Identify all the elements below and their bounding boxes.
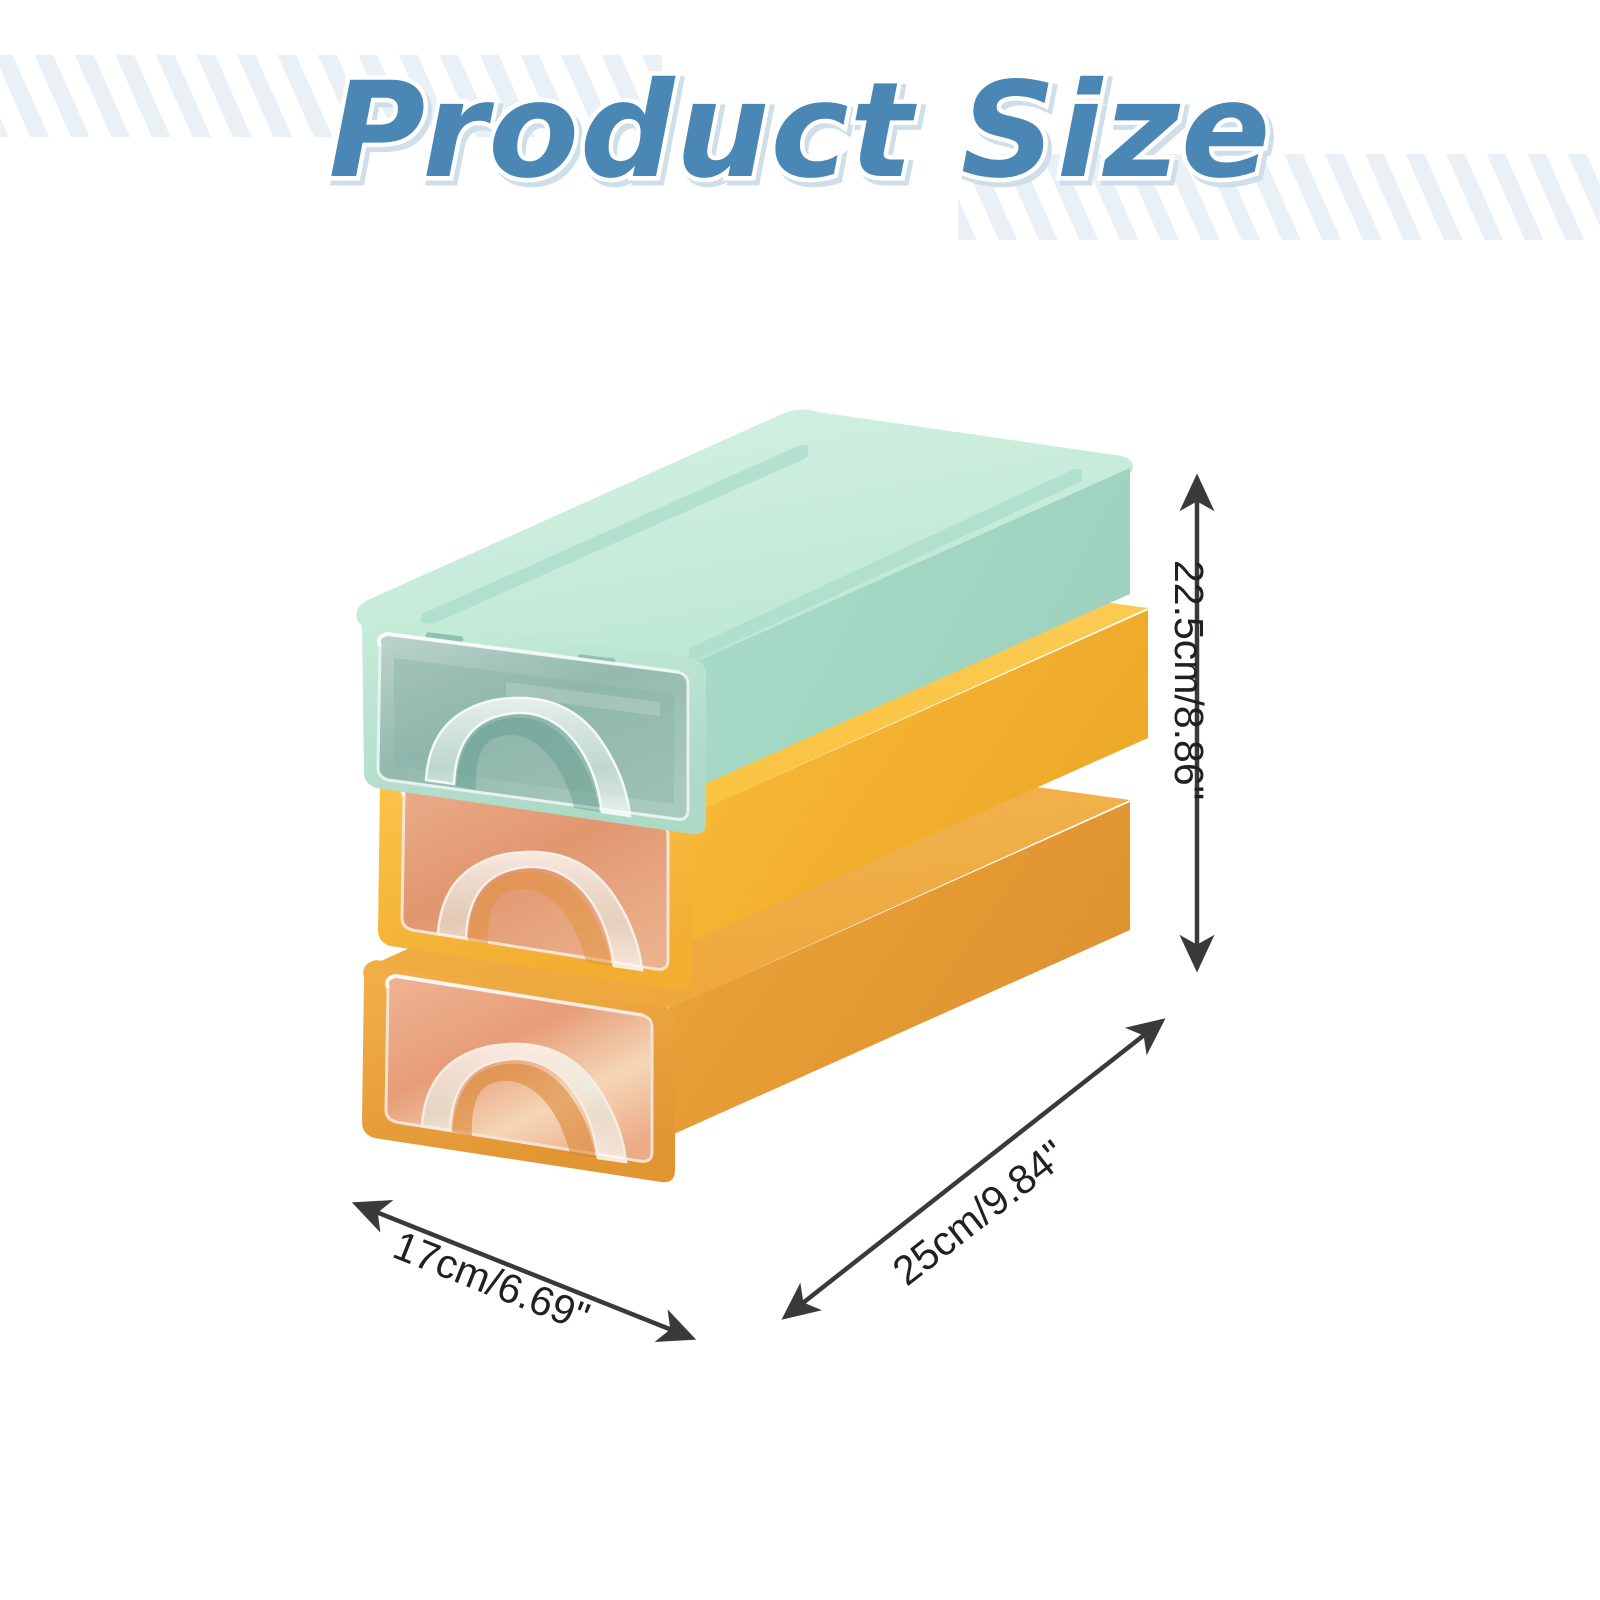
infographic-canvas: Product Size [0,0,1600,1600]
dimension-label-height: 22.5cm/8.86" [1165,560,1212,800]
product-illustration [330,370,1160,1300]
stripe-band-top-left [0,55,662,137]
stripe-band-right [958,154,1600,240]
